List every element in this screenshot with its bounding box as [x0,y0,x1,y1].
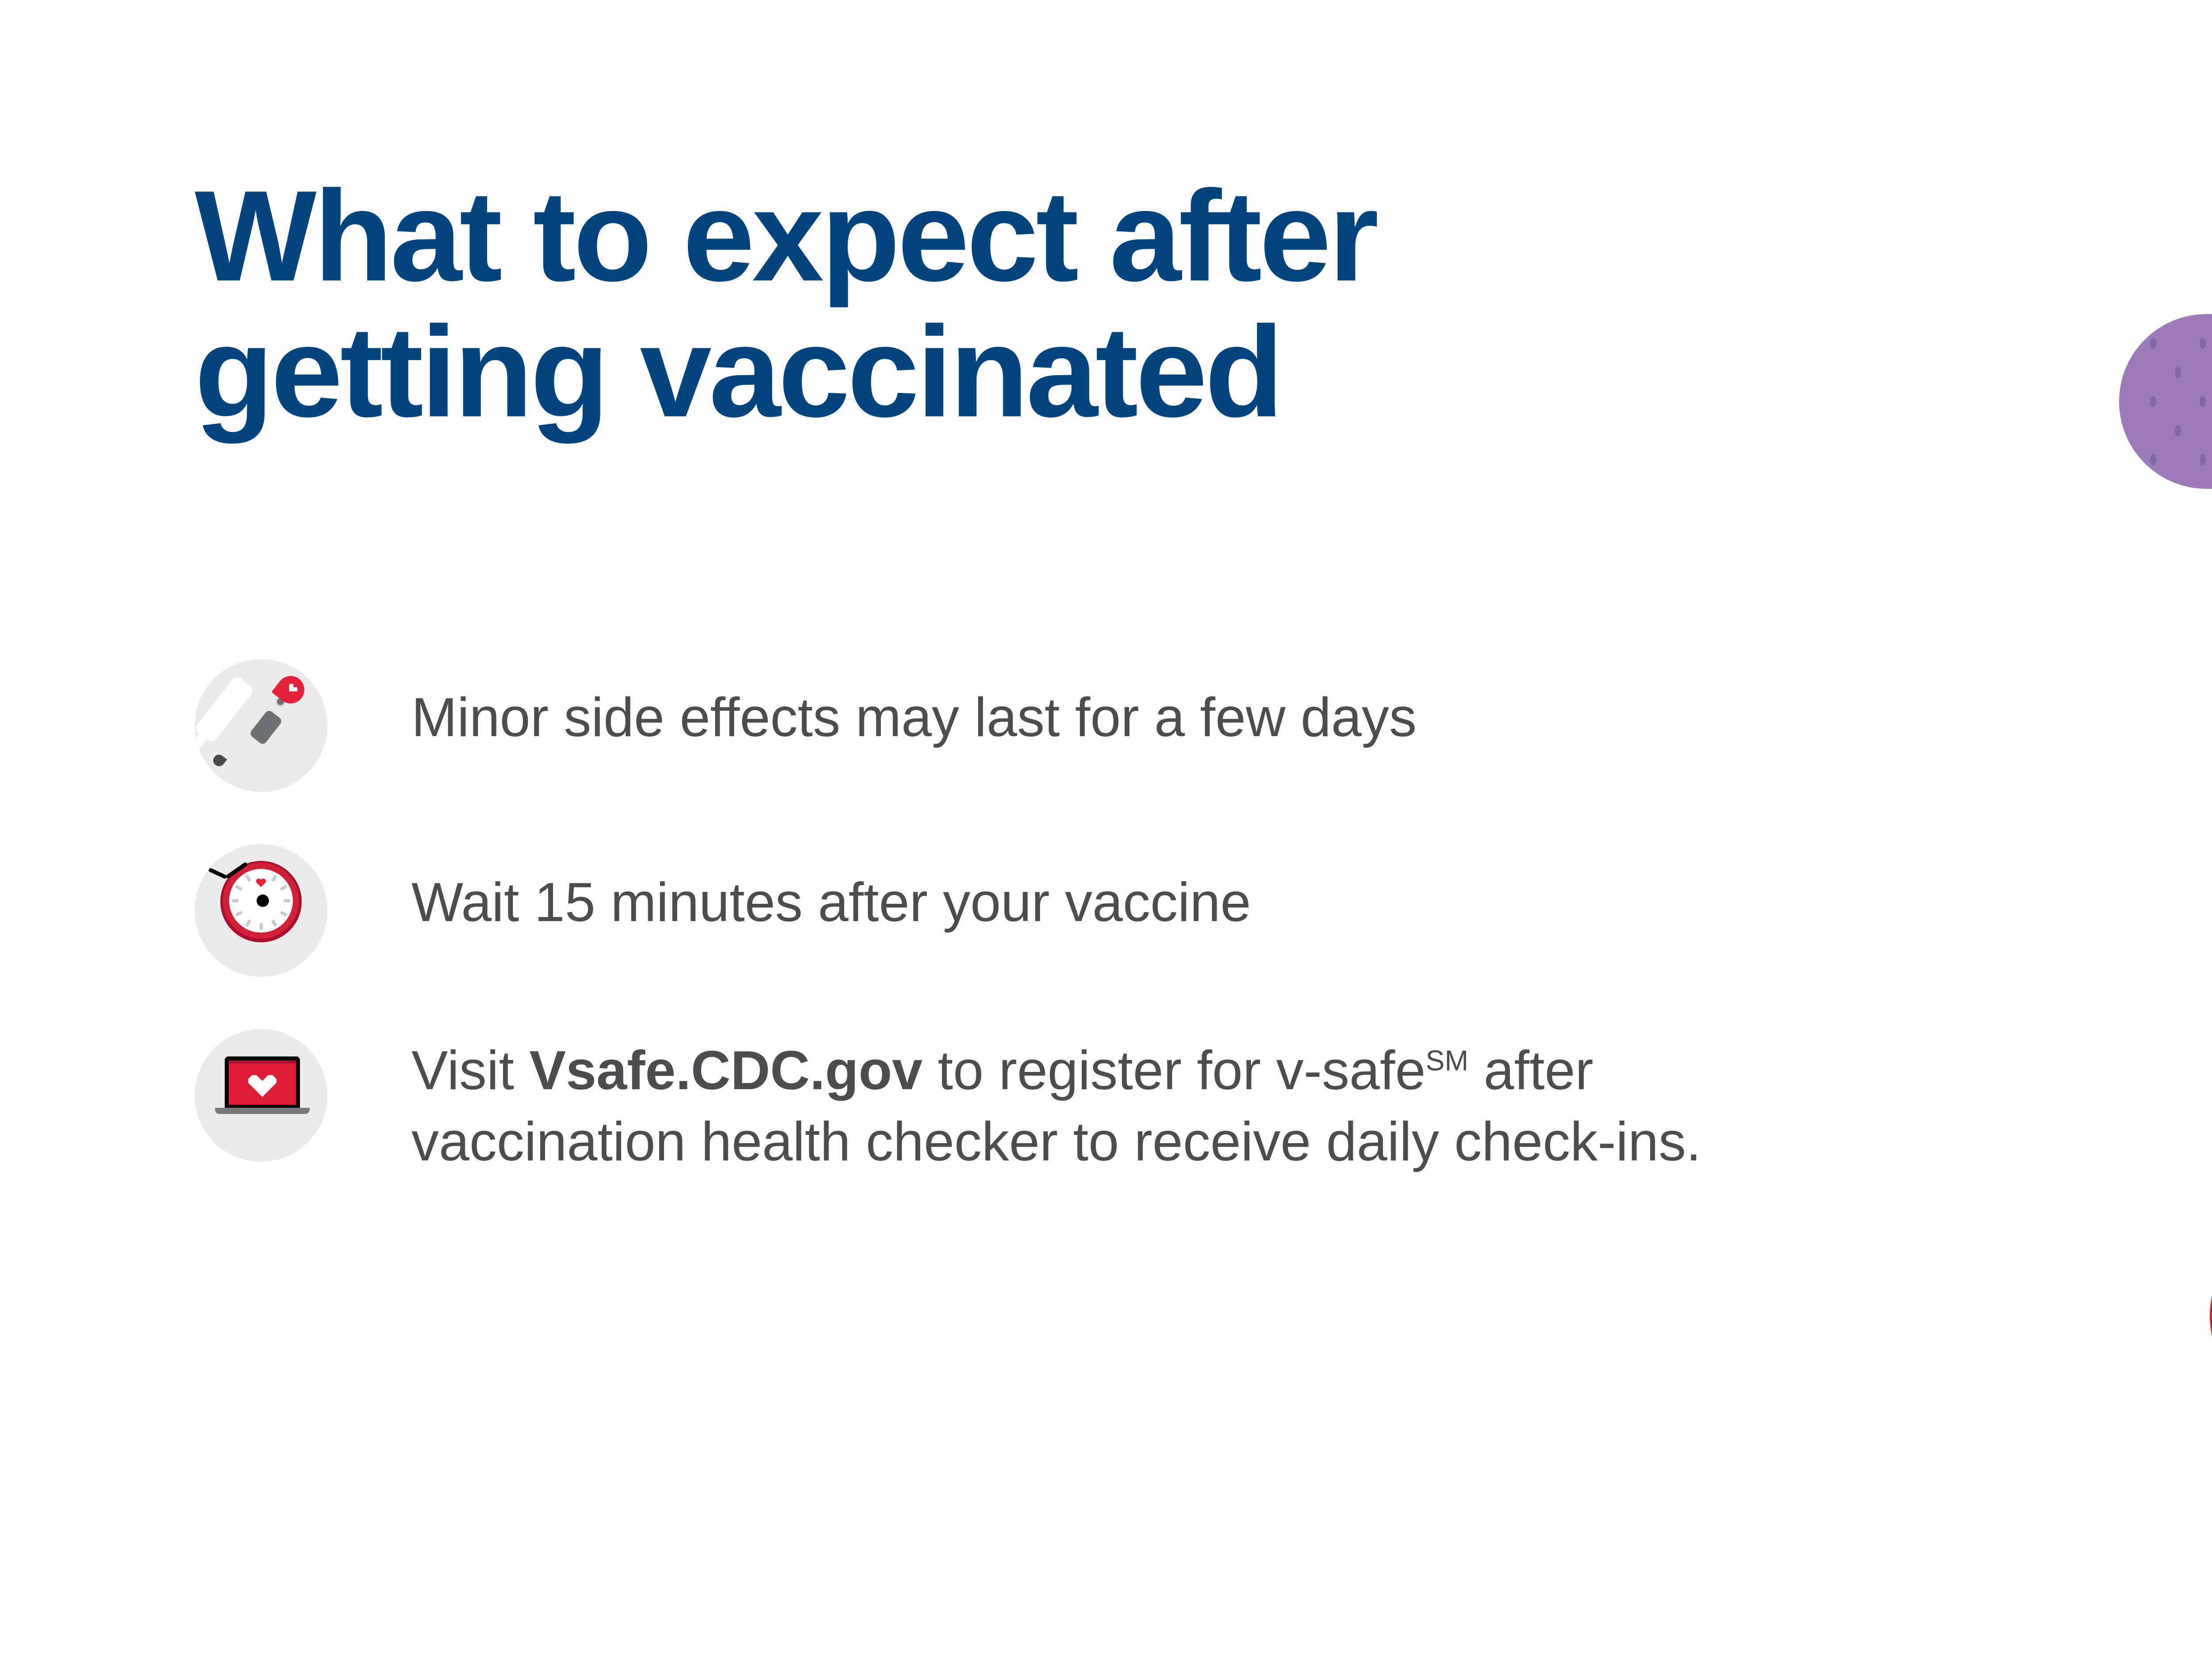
bandage-perforations [2119,314,2212,489]
bandage-perforations [2210,1225,2212,1407]
poster-canvas: What to expect after getting vaccinated [0,0,2212,1659]
bandage-purple-light [2119,314,2212,489]
bandage-illustration-group [0,0,2212,1659]
bandage-red-bright [2210,1225,2212,1407]
